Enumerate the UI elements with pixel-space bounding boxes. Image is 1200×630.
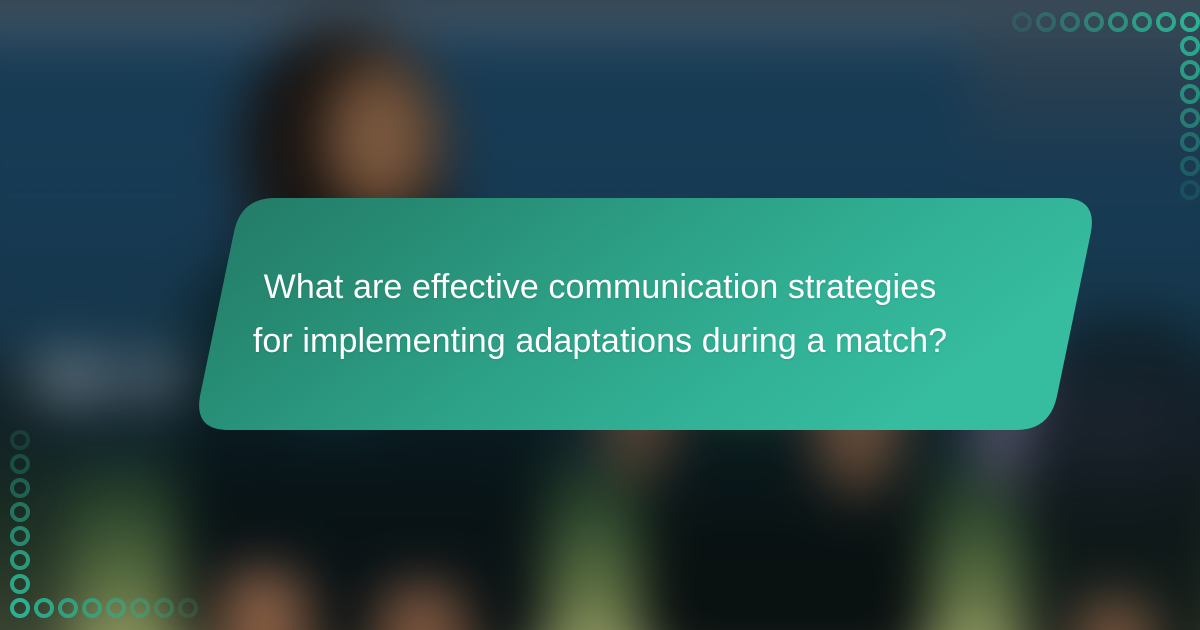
decorative-circle — [1180, 60, 1200, 80]
decorative-circle — [10, 550, 30, 570]
question-line-1: What are effective communication strateg… — [264, 260, 937, 314]
decorative-circle — [1180, 36, 1200, 56]
decorative-circle — [1180, 180, 1200, 200]
decorative-circle — [1180, 84, 1200, 104]
decorative-circle — [58, 598, 78, 618]
decorative-circles-top-right — [990, 0, 1200, 205]
decorative-circle — [1036, 12, 1056, 32]
decorative-circle — [1108, 12, 1128, 32]
decorative-circle — [10, 574, 30, 594]
decorative-circle — [1180, 12, 1200, 32]
decorative-circle — [1012, 12, 1032, 32]
question-text: What are effective communication strateg… — [95, 198, 1105, 430]
decorative-circle — [1132, 12, 1152, 32]
decorative-circle — [82, 598, 102, 618]
decorative-circle — [10, 502, 30, 522]
decorative-circle — [10, 598, 30, 618]
banner-canvas: What are effective communication strateg… — [0, 0, 1200, 630]
decorative-circle — [1180, 108, 1200, 128]
decorative-circles-bottom-left — [0, 430, 205, 630]
decorative-circle — [1060, 12, 1080, 32]
decorative-circle — [1084, 12, 1104, 32]
decorative-circle — [178, 598, 198, 618]
decorative-circle — [1180, 132, 1200, 152]
question-line-2: for implementing adaptations during a ma… — [253, 314, 947, 368]
decorative-circle — [10, 430, 30, 450]
decorative-circle — [10, 526, 30, 546]
decorative-circle — [106, 598, 126, 618]
decorative-circle — [154, 598, 174, 618]
question-card: What are effective communication strateg… — [95, 198, 1105, 430]
decorative-circle — [10, 478, 30, 498]
decorative-circle — [34, 598, 54, 618]
decorative-circle — [1180, 156, 1200, 176]
decorative-circle — [130, 598, 150, 618]
decorative-circle — [10, 454, 30, 474]
decorative-circle — [1156, 12, 1176, 32]
